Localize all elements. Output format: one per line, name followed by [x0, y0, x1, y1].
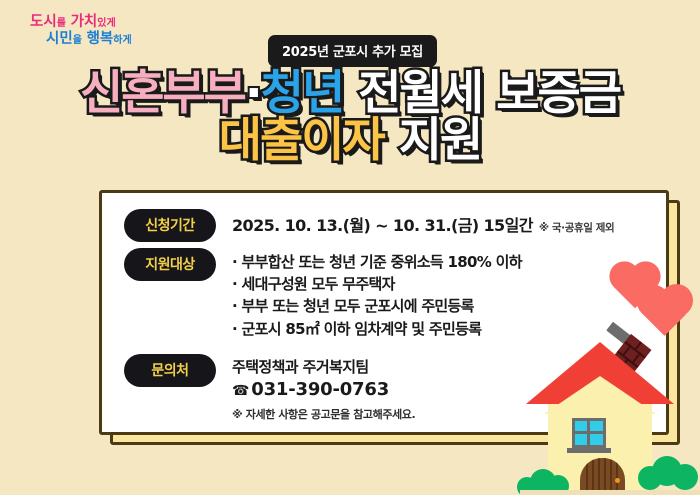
list-item: · 세대구성원 모두 무주택자	[232, 273, 648, 295]
label-application-period: 신청기간	[124, 209, 216, 242]
label-contact: 문의처	[124, 354, 216, 387]
brand-logo-particle-2: 을	[73, 35, 82, 46]
eligibility-body: · 부부합산 또는 청년 기준 중위소득 180% 이하 · 세대구성원 모두 …	[232, 248, 648, 340]
row-application-period: 신청기간 2025. 10. 13.(월) ~ 10. 31.(금) 15일간※…	[124, 209, 648, 242]
brand-logo-word-citizen: 시민	[46, 31, 73, 47]
eligibility-list: · 부부합산 또는 청년 기준 중위소득 180% 이하 · 세대구성원 모두 …	[232, 251, 648, 340]
headline-word-loan-interest: 대출이자	[219, 119, 384, 164]
contact-phone-number: 031-390-0763	[251, 379, 389, 400]
headline-word-youth: 청년	[261, 72, 343, 117]
list-item: · 부부합산 또는 청년 기준 중위소득 180% 이하	[232, 251, 648, 273]
headline-line-1: 신혼부부·청년 전월세 보증금	[0, 72, 700, 117]
bush-icon	[652, 456, 682, 486]
headline-word-support: 지원	[399, 119, 481, 164]
row-eligibility: 지원대상 · 부부합산 또는 청년 기준 중위소득 180% 이하 · 세대구성…	[124, 248, 648, 340]
recruitment-badge: 2025년 군포시 추가 모집	[268, 35, 437, 67]
phone-icon: ☎	[232, 383, 249, 399]
brand-logo-word-value: 가치	[71, 14, 98, 30]
application-period-dates: 2025. 10. 13.(월) ~ 10. 31.(금) 15일간	[232, 216, 533, 235]
label-eligibility: 지원대상	[124, 248, 216, 281]
headline-word-newlywed: 신혼부부	[80, 72, 245, 117]
brand-logo: 도시를 가치있게 시민을 행복하게	[30, 14, 132, 47]
brand-logo-word-city: 도시	[30, 14, 57, 30]
brand-logo-tail-2: 하게	[113, 35, 131, 46]
list-item: · 부부 또는 청년 모두 군포시에 주민등록	[232, 295, 648, 317]
headline-line-2: 대출이자 지원	[0, 119, 700, 164]
brand-logo-line-2: 시민을 행복하게	[30, 31, 132, 48]
brand-logo-particle-1: 를	[57, 18, 66, 29]
window-sill	[567, 448, 611, 453]
brand-logo-tail-1: 있게	[97, 18, 115, 29]
application-period-note: ※ 국·공휴일 제외	[539, 222, 614, 234]
application-period-body: 2025. 10. 13.(월) ~ 10. 31.(금) 15일간※ 국·공휴…	[232, 209, 648, 236]
window-mullion-vertical	[587, 418, 590, 448]
headline-separator-dot: ·	[245, 72, 261, 117]
page-title: 신혼부부·청년 전월세 보증금 대출이자 지원	[0, 72, 700, 163]
door-knob	[615, 478, 620, 483]
ground-line	[520, 490, 700, 495]
brand-logo-word-happy: 행복	[87, 31, 114, 47]
brand-logo-line-1: 도시를 가치있게	[30, 14, 132, 31]
house-illustration	[520, 330, 700, 495]
headline-word-deposit: 전월세 보증금	[358, 72, 620, 117]
poster-canvas: 도시를 가치있게 시민을 행복하게 2025년 군포시 추가 모집 신혼부부·청…	[0, 0, 700, 495]
